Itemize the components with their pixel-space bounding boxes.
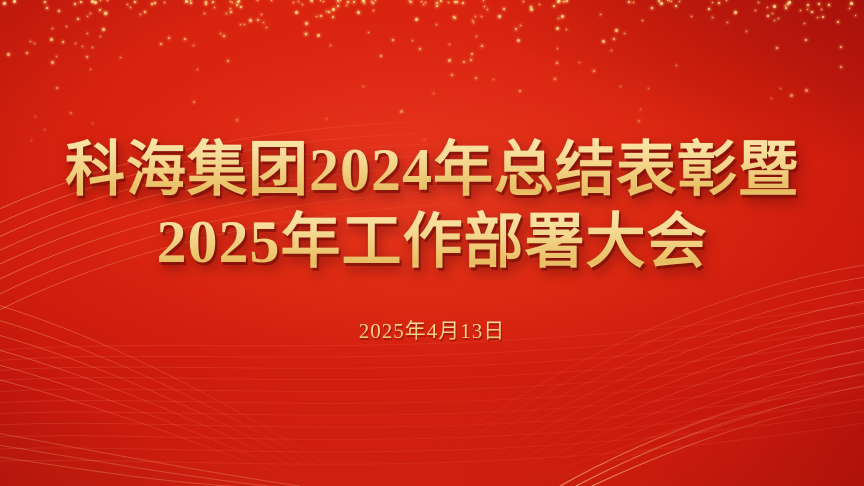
poster-title-line1: 科海集团2024年总结表彰暨 [65, 135, 799, 205]
poster-date: 2025年4月13日 [359, 315, 506, 345]
poster-content: 科海集团2024年总结表彰暨 2025年工作部署大会 2025年4月13日 [0, 0, 864, 486]
poster-title-line2: 2025年工作部署大会 [157, 207, 708, 277]
poster-canvas: 科海集团2024年总结表彰暨 2025年工作部署大会 2025年4月13日 [0, 0, 864, 486]
